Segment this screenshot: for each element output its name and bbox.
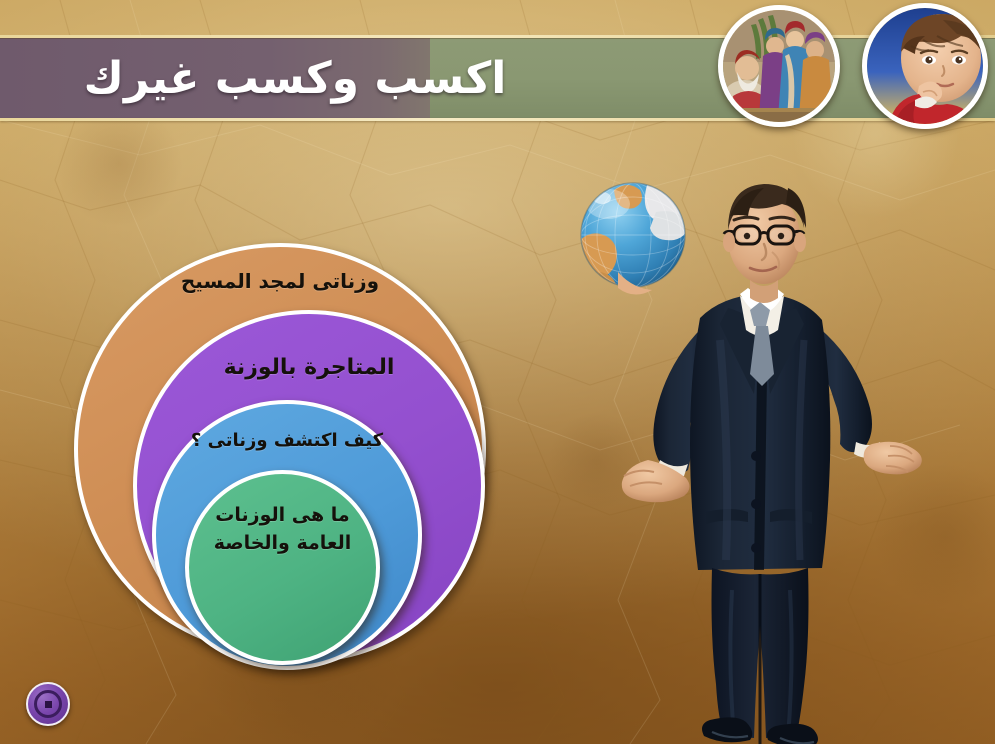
bible-parable-illustration-image	[723, 10, 835, 122]
presentation-slide: اكسب وكسب غيرك	[0, 0, 995, 744]
header-top-rule	[0, 35, 995, 38]
medallion-child-photo	[862, 3, 988, 129]
page-title: اكسب وكسب غيرك	[0, 40, 590, 116]
topic-circle-blue-label: كيف اكتشف وزناتى ؟	[191, 430, 383, 453]
man-holding-globe-image	[560, 160, 960, 744]
thinking-child-photo-image	[867, 8, 983, 124]
stop-square-glyph	[45, 701, 52, 708]
slide-header: اكسب وكسب غيرك	[0, 0, 995, 130]
topic-circle-green[interactable]: ما هى الوزنات العامة والخاصة	[185, 470, 380, 665]
media-stop-button[interactable]	[26, 682, 70, 726]
topic-circle-green-label: ما هى الوزنات العامة والخاصة	[203, 502, 363, 557]
media-stop-icon	[34, 690, 62, 718]
medallion-bible-illustration	[718, 5, 840, 127]
header-bottom-rule	[0, 118, 995, 121]
topic-circle-purple-label: المتاجرة بالوزنة	[224, 354, 395, 382]
topic-circle-outer-label: وزناتى لمجد المسيح	[181, 269, 379, 294]
